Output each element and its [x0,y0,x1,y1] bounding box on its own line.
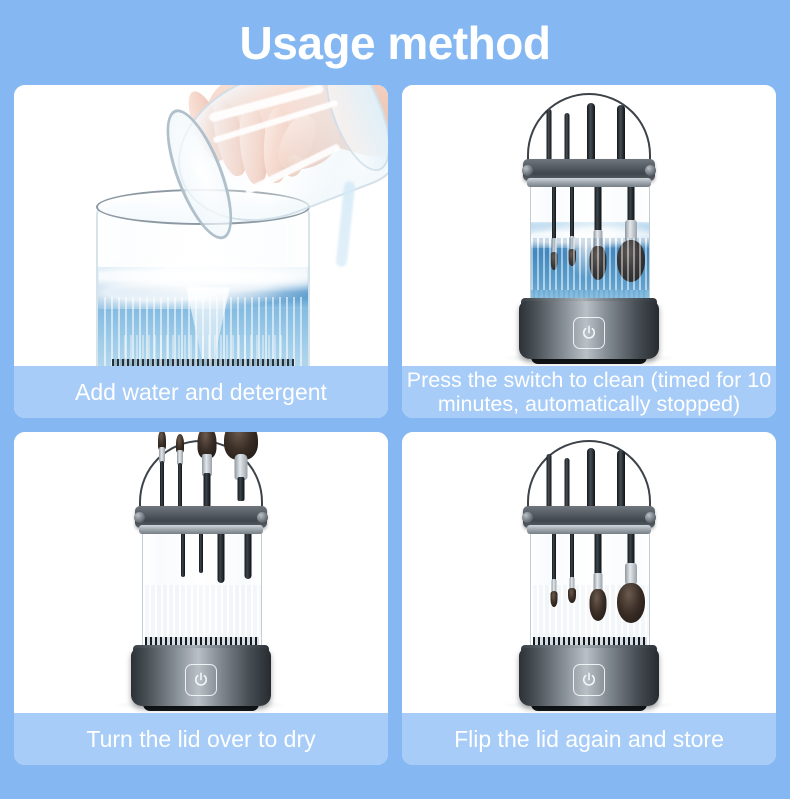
pouring-glass-icon [156,85,388,244]
step-2-caption: Press the switch to clean (timed for 10 … [402,366,776,418]
brush-up-icon [193,432,221,512]
brush-down-icon [566,531,578,605]
brush-down-icon [615,531,647,625]
step-3-caption: Turn the lid over to dry [14,713,388,765]
power-button-icon[interactable] [573,664,605,696]
power-button-icon[interactable] [573,317,605,349]
page-title: Usage method [0,14,790,72]
step-3-photo [14,432,388,713]
step-card-2[interactable]: Press the switch to clean (timed for 10 … [402,85,776,418]
brush-down-icon [587,531,609,621]
usage-method-infographic: Usage method [0,0,790,799]
brush-up-icon [173,434,187,510]
brush-up-icon [155,432,169,510]
brush-cleaner-icon [509,432,669,713]
water-tank-icon [530,184,650,306]
step-2-photo [402,85,776,366]
step-1-caption: Add water and detergent [14,366,388,418]
water-tank-icon [142,531,262,653]
brush-down-icon [548,531,560,609]
step-card-3[interactable]: Turn the lid over to dry [14,432,388,765]
step-4-caption: Flip the lid again and store [402,713,776,765]
brush-cleaner-icon [121,432,281,713]
brush-cleaner-icon [509,85,669,366]
brush-up-icon [221,432,261,512]
steps-grid: Add water and detergent [14,85,776,785]
step-card-4[interactable]: Flip the lid again and store [402,432,776,765]
step-card-1[interactable]: Add water and detergent [14,85,388,418]
power-button-icon[interactable] [185,664,217,696]
water-tank-icon [530,531,650,653]
step-1-photo [14,85,388,366]
hand-icon [164,85,388,227]
step-4-photo [402,432,776,713]
